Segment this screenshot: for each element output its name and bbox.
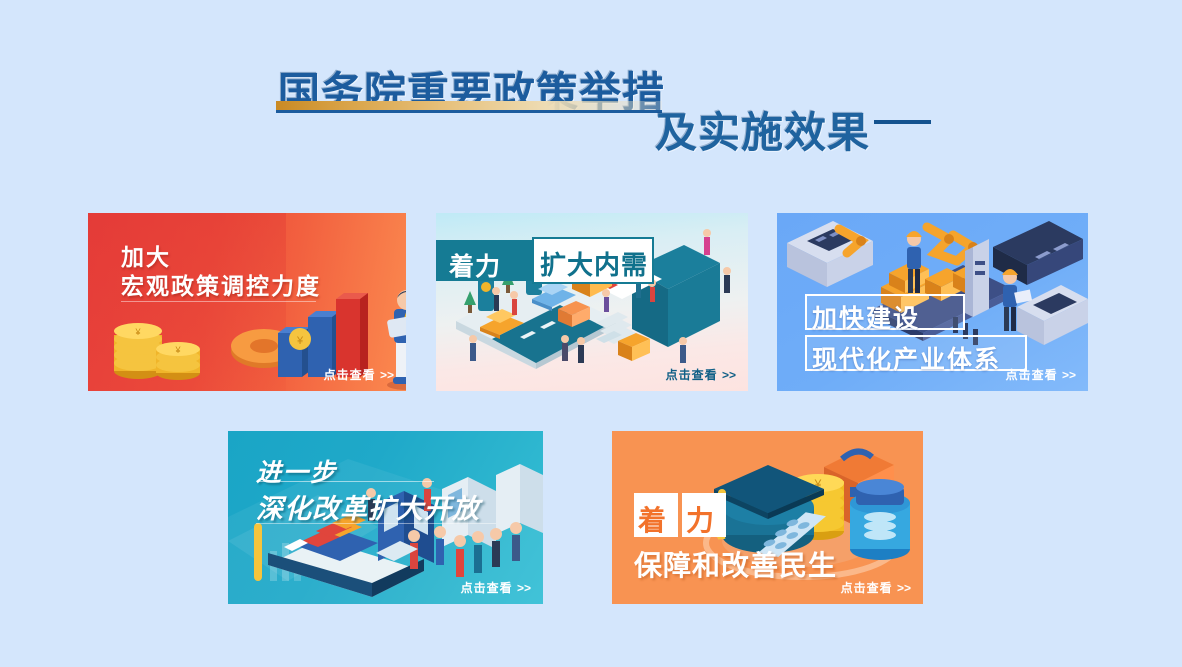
card-2-cta[interactable]: 点击查看 >>	[666, 366, 736, 383]
policy-measures-page: 国务院重要政策举措 及实施效果 ¥	[0, 0, 1182, 667]
card-1-cta-label: 点击查看	[324, 368, 376, 382]
card-4-divider-1	[256, 481, 434, 482]
card-3-title-line-1: 加快建设	[812, 299, 920, 335]
policy-card-livelihood[interactable]: ¥	[612, 431, 923, 604]
card-5-title-char-1: 着	[638, 499, 666, 539]
card-5-title-char-2: 力	[686, 499, 714, 539]
short-dash-rule-icon	[874, 120, 931, 124]
card-4-divider-2	[256, 523, 496, 524]
coin-stack-icon: ¥ ¥	[106, 301, 216, 381]
card-4-title-line-2: 深化改革扩大开放	[256, 487, 480, 526]
blue-rule-icon	[276, 110, 662, 113]
card-2-title-line-1: 着力	[449, 247, 501, 283]
policy-card-expand-demand[interactable]: 着力 扩大内需 点击查看 >>	[436, 213, 748, 391]
card-4-cta[interactable]: 点击查看 >>	[461, 579, 531, 596]
svg-text:¥: ¥	[174, 345, 181, 355]
card-3-chevron-icon: >>	[1062, 368, 1076, 382]
card-5-cta[interactable]: 点击查看 >>	[841, 579, 911, 596]
svg-text:¥: ¥	[134, 327, 141, 337]
svg-text:¥: ¥	[296, 335, 304, 347]
card-5-chevron-icon: >>	[897, 581, 911, 595]
card-1-title-line-2: 宏观政策调控力度	[121, 267, 321, 301]
card-5-cta-label: 点击查看	[841, 581, 893, 595]
card-2-chevron-icon: >>	[722, 368, 736, 382]
card-1-cta[interactable]: 点击查看 >>	[324, 366, 394, 383]
policy-card-macro-regulation[interactable]: ¥ ¥	[88, 213, 406, 391]
gold-gradient-rule-icon	[276, 101, 662, 110]
policy-card-reform-opening[interactable]: 进一步 深化改革扩大开放 点击查看 >>	[228, 431, 543, 604]
card-1-chevron-icon: >>	[380, 368, 394, 382]
card-2-cta-label: 点击查看	[666, 368, 718, 382]
policy-card-modern-industry[interactable]: 加快建设 现代化产业体系 点击查看 >>	[777, 213, 1088, 391]
card-3-title-line-2: 现代化产业体系	[812, 340, 1001, 376]
card-2-title-line-2: 扩大内需	[540, 245, 648, 282]
card-4-title-line-1: 进一步	[256, 453, 337, 489]
card-4-chevron-icon: >>	[517, 581, 531, 595]
card-4-cta-label: 点击查看	[461, 581, 513, 595]
page-header: 国务院重要政策举措 及实施效果	[0, 0, 1182, 180]
card-5-title-line-2: 保障和改善民生	[634, 544, 837, 584]
card-3-cta[interactable]: 点击查看 >>	[1006, 366, 1076, 383]
card-1-divider	[121, 301, 316, 302]
page-title-line-2: 及实施效果	[655, 99, 870, 160]
card-3-cta-label: 点击查看	[1006, 368, 1058, 382]
